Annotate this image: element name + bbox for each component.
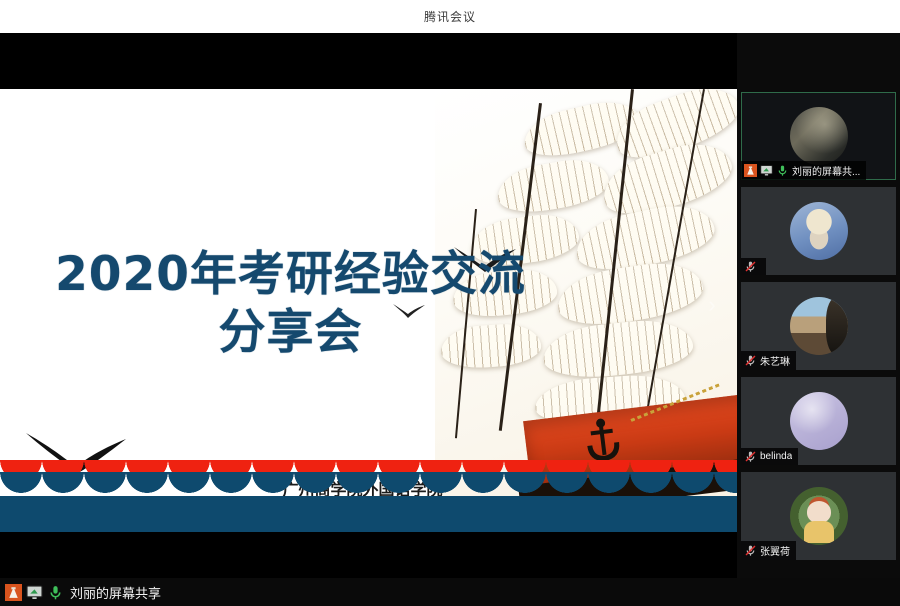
participant-tile[interactable]	[741, 187, 896, 275]
avatar	[790, 107, 848, 165]
window-titlebar: 腾讯会议	[0, 0, 900, 33]
participant-tile[interactable]: belinda	[741, 377, 896, 465]
slide-title-line-2: 分享会	[18, 304, 563, 362]
microphone-on-icon[interactable]	[47, 584, 64, 601]
app-icon	[744, 164, 757, 177]
taskbar-share-label: 刘丽的屏幕共享	[70, 583, 161, 602]
participant-sidebar[interactable]: 刘丽的屏幕共...	[737, 33, 900, 578]
participant-badge: 张翼荷	[741, 541, 796, 560]
shared-screen-stage[interactable]: 2020年考研经验交流 分享会 广州商学院外国语学院 2020年6月9日 ›	[0, 33, 737, 578]
avatar	[790, 202, 848, 260]
taskbar[interactable]: 刘丽的屏幕共享	[0, 578, 900, 606]
participant-tile[interactable]: 刘丽的屏幕共...	[741, 92, 896, 180]
avatar	[790, 392, 848, 450]
participant-tile[interactable]: 张翼荷	[741, 472, 896, 560]
presentation-slide: 2020年考研经验交流 分享会 广州商学院外国语学院 2020年6月9日	[0, 89, 737, 532]
participant-name: 刘丽的屏幕共...	[792, 163, 860, 178]
slide-decorative-band	[0, 460, 737, 532]
microphone-on-icon	[776, 164, 789, 177]
microphone-muted-icon	[744, 260, 757, 273]
screen-share-icon[interactable]	[26, 584, 43, 601]
microphone-muted-icon	[744, 354, 757, 367]
participant-name: 朱艺琳	[760, 353, 790, 368]
microphone-muted-icon	[744, 544, 757, 557]
participant-tile[interactable]: 朱艺琳	[741, 282, 896, 370]
band-solid-blue	[0, 496, 737, 532]
microphone-muted-icon	[744, 450, 757, 463]
slide-title: 2020年考研经验交流 分享会	[18, 246, 563, 363]
participant-name: belinda	[760, 451, 792, 462]
meeting-window: 腾讯会议	[0, 0, 900, 606]
participant-badge: 刘丽的屏幕共...	[741, 161, 866, 180]
app-icon[interactable]	[5, 584, 22, 601]
participant-badge: belinda	[741, 448, 798, 465]
avatar	[790, 487, 848, 545]
slide-title-line-1: 2020年考研经验交流	[18, 246, 563, 304]
participant-badge: 朱艺琳	[741, 351, 796, 370]
screen-share-icon	[760, 164, 773, 177]
participant-name: 张翼荷	[760, 543, 790, 558]
avatar	[790, 297, 848, 355]
participant-badge	[741, 258, 766, 275]
chevron-right-icon[interactable]: ›	[701, 288, 723, 322]
window-title: 腾讯会议	[424, 8, 476, 25]
